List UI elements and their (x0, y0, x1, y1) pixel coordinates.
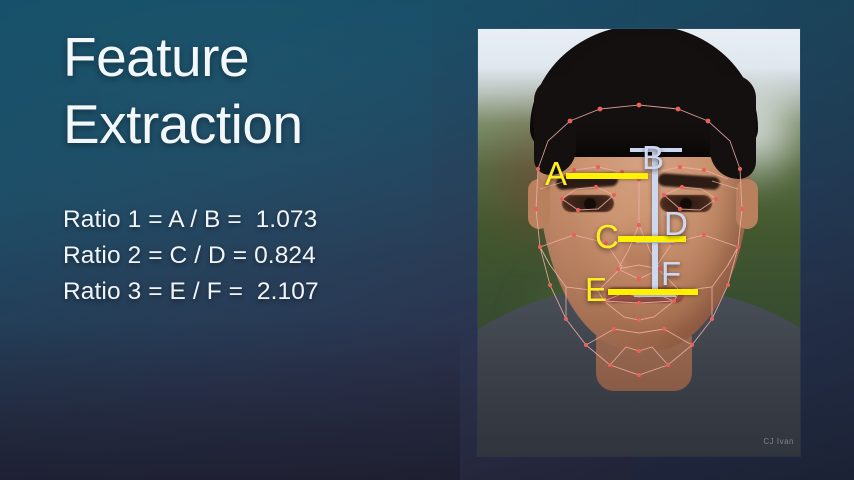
measure-d-label: D (664, 207, 688, 240)
pupil-left (584, 198, 596, 210)
subject-nose (624, 215, 664, 271)
measure-b-label: B (642, 141, 664, 174)
measure-a-label: A (545, 157, 567, 190)
measure-e-line (608, 289, 698, 295)
slide-canvas: Feature Extraction Ratio 1 = A / B = 1.0… (0, 0, 854, 480)
text-column: Feature Extraction Ratio 1 = A / B = 1.0… (63, 24, 463, 158)
ratio-list: Ratio 1 = A / B = 1.073 Ratio 2 = C / D … (63, 202, 463, 310)
photo-watermark: CJ Ivan (763, 437, 794, 446)
measure-e-label: E (585, 273, 607, 306)
measure-a-line (566, 173, 648, 179)
subject-ear-right (736, 179, 758, 229)
portrait-photo: A B C D E F CJ Ivan (478, 29, 800, 456)
ratio-line-2: Ratio 2 = C / D = 0.824 (63, 238, 463, 274)
subject-eye-left (562, 195, 614, 212)
measure-f-label: F (661, 257, 681, 290)
page-title: Feature Extraction (63, 24, 463, 158)
measure-c-label: C (595, 220, 619, 253)
ratio-line-1: Ratio 1 = A / B = 1.073 (63, 202, 463, 238)
ratio-line-3: Ratio 3 = E / F = 2.107 (63, 274, 463, 310)
